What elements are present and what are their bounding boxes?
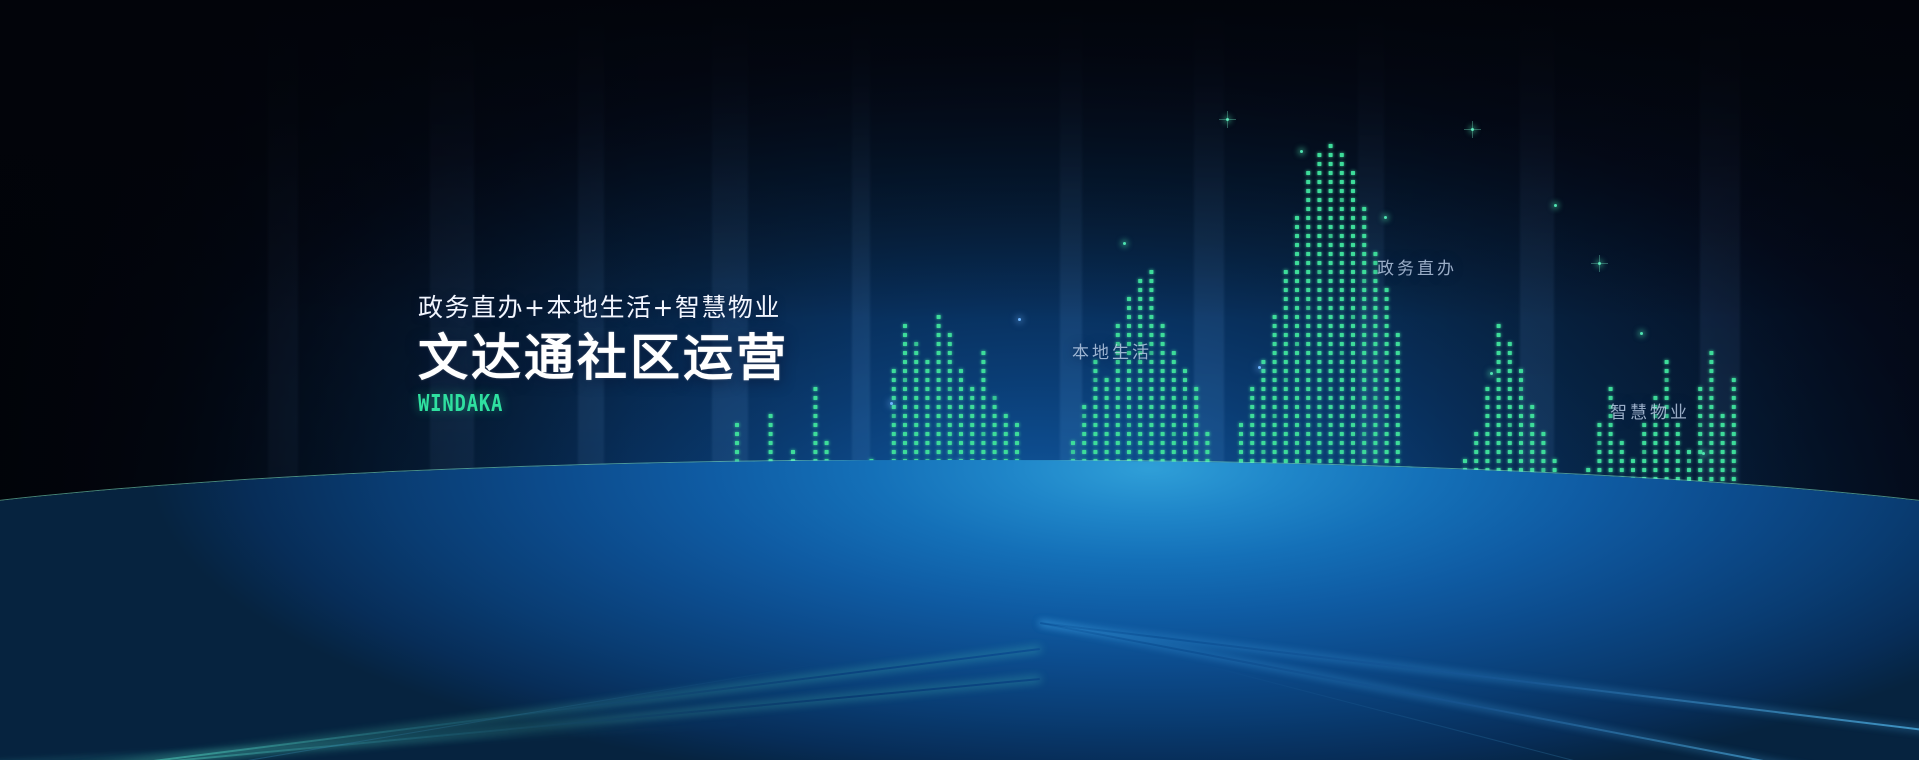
- sparkle-2: [1300, 150, 1303, 153]
- sparkle-11: [1258, 366, 1261, 369]
- road-line-5: [1040, 622, 1919, 760]
- perspective-road-lines: [0, 460, 1919, 760]
- sparkle-10: [1640, 332, 1643, 335]
- road-line-6: [1040, 622, 1834, 760]
- sparkle-9: [890, 402, 893, 405]
- sparkle-5: [1598, 262, 1601, 265]
- sparkle-4: [1554, 204, 1557, 207]
- skyline-label-1: 本地生活: [1072, 338, 1152, 363]
- road-line-1: [0, 648, 1040, 760]
- sparkle-6: [1384, 216, 1387, 219]
- sparkle-8: [1018, 318, 1021, 321]
- banner-headline: 文达通社区运营: [418, 331, 789, 385]
- skyline-label-2: 政务直办: [1377, 254, 1457, 279]
- banner-root: 本地生活政务直办智慧物业 政务直办+本地生活+智慧物业 文达通社区运营 WIND…: [0, 0, 1919, 760]
- skyline-label-3: 智慧物业: [1610, 398, 1690, 423]
- sparkle-3: [1471, 128, 1474, 131]
- sparkle-14: [1490, 372, 1493, 375]
- sparkle-1: [1226, 118, 1229, 121]
- sparkle-7: [1123, 242, 1126, 245]
- ground-plane: [0, 460, 1919, 760]
- headline-block: 政务直办+本地生活+智慧物业 文达通社区运营 WINDAKA: [418, 288, 789, 417]
- banner-subtitle: 政务直办+本地生活+智慧物业: [418, 288, 789, 324]
- road-line-4: [1040, 622, 1919, 742]
- brand-wordmark: WINDAKA: [418, 391, 722, 417]
- sparkle-12: [1702, 452, 1705, 455]
